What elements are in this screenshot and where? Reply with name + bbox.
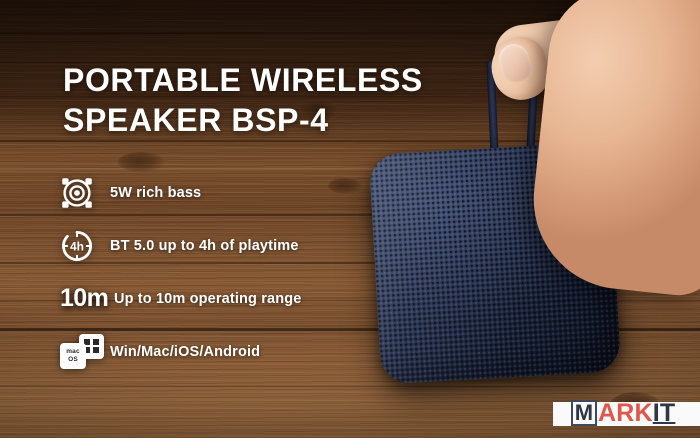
logo-letter-m: M [571,400,597,426]
feature-label: BT 5.0 up to 4h of playtime [110,238,299,254]
macos-label-line1: mac [66,348,80,356]
feature-item-playtime: 4h BT 5.0 up to 4h of playtime [60,219,390,272]
feature-item-range: 10m Up to 10m operating range [60,272,390,325]
logo-text-ark: ARK [598,401,653,426]
svg-text:4h: 4h [70,239,84,253]
speaker-driver-icon [60,176,108,210]
feature-label: Up to 10m operating range [114,291,301,307]
feature-list: 5W rich bass 4h BT 5.0 up to 4h of playt… [60,166,390,378]
logo-text-it: IT [653,401,676,426]
headline-line-1: PORTABLE WIRELESS [63,60,423,100]
product-banner: PORTABLE WIRELESS SPEAKER BSP-4 [0,0,700,438]
macos-label-line2: OS [68,356,78,364]
headline-line-2: SPEAKER BSP-4 [63,100,423,140]
feature-label: 5W rich bass [110,185,201,201]
feature-item-bass: 5W rich bass [60,166,390,219]
macos-icon: mac OS [60,343,86,369]
os-compatibility-tiles: mac OS [60,334,108,370]
feature-item-compatibility: mac OS Win/Mac/iOS/Android [60,325,390,378]
feature-label: Win/Mac/iOS/Android [110,344,260,360]
range-10m-badge: 10m [60,286,112,311]
brand-logo: M ARK IT [571,396,675,430]
battery-4h-timer-icon: 4h [60,229,108,263]
page-title: PORTABLE WIRELESS SPEAKER BSP-4 [63,60,423,140]
range-badge-text: 10m [60,286,108,311]
